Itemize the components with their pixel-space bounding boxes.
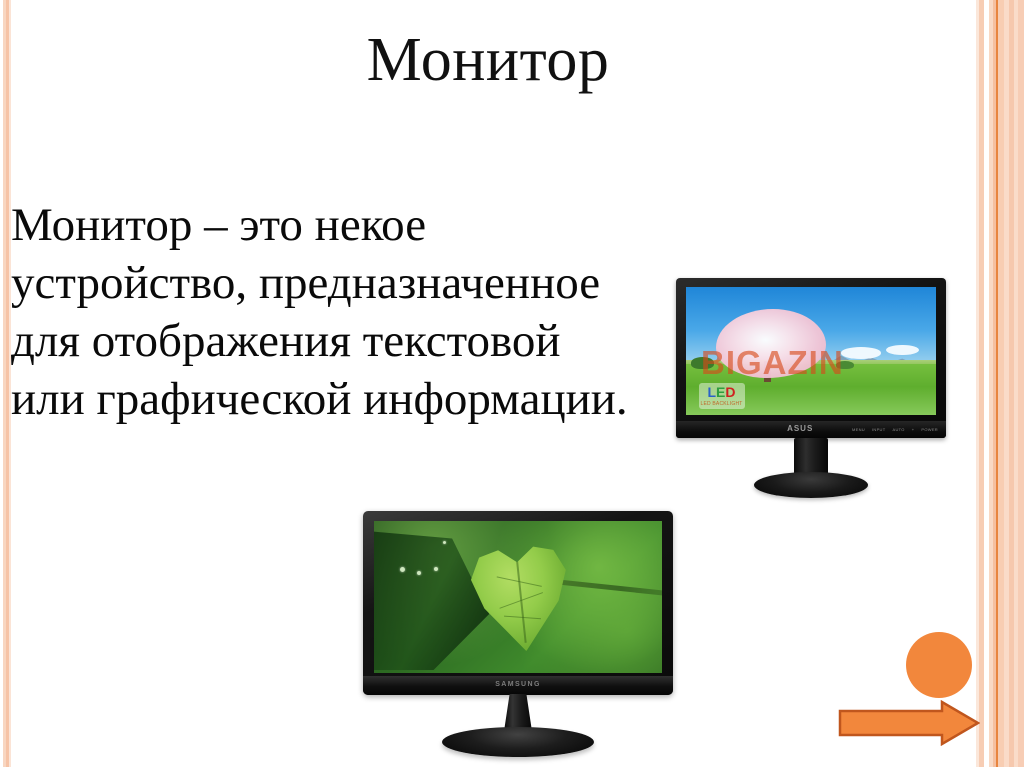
asus-screen: BIGAZIN LED LED BACKLIGHT (686, 287, 936, 415)
decorative-stripe-4 (993, 0, 996, 767)
asus-button-input: INPUT (872, 427, 886, 432)
decorative-stripe-1 (6, 0, 9, 767)
asus-bezel: BIGAZIN LED LED BACKLIGHT ASUS MENU INPU… (676, 278, 946, 438)
nav-circle-marker[interactable] (906, 632, 972, 698)
leaf-monitor-bottom-bezel: SAMSUNG (363, 676, 673, 695)
asus-stand-base (754, 472, 868, 498)
asus-button-power: POWER (921, 427, 938, 432)
decorative-stripe-7 (1004, 0, 1009, 767)
decorative-stripe-5 (996, 0, 998, 767)
body-paragraph: Монитор – это некое устройство, предназн… (11, 196, 631, 428)
led-letter-l: L (707, 384, 716, 400)
leaf-monitor-screen (374, 521, 662, 673)
arrow-right-icon[interactable] (838, 700, 980, 746)
next-slide-navigation[interactable] (838, 632, 980, 744)
right-decorative-stripes (976, 0, 1024, 767)
led-letter-e: E (716, 384, 725, 400)
asus-brand-logo: ASUS (787, 424, 813, 433)
led-badge-letters: LED (707, 384, 735, 400)
led-badge: LED LED BACKLIGHT (699, 383, 745, 409)
decorative-stripe-9 (1014, 0, 1018, 767)
led-letter-d: D (725, 384, 735, 400)
asus-button-menu: MENU (852, 427, 865, 432)
asus-control-buttons: MENU INPUT AUTO + POWER (852, 427, 938, 432)
monitor-image-leaf: SAMSUNG (363, 511, 673, 763)
decorative-stripe-0 (3, 0, 6, 767)
presentation-slide: Монитор Монитор – это некое устройство, … (0, 0, 1024, 767)
wallpaper-water-drop (400, 567, 405, 572)
asus-bottom-bezel: ASUS MENU INPUT AUTO + POWER (676, 421, 946, 438)
led-badge-subtitle: LED BACKLIGHT (699, 402, 745, 407)
leaf-monitor-brand-logo: SAMSUNG (495, 681, 541, 688)
screen-watermark: BIGAZIN (701, 346, 936, 379)
monitor-image-asus: BIGAZIN LED LED BACKLIGHT ASUS MENU INPU… (676, 278, 946, 500)
decorative-stripe-6 (998, 0, 1004, 767)
leaf-monitor-stand-base (442, 727, 594, 757)
page-title: Монитор (0, 28, 976, 93)
asus-button-plus: + (912, 427, 915, 432)
wallpaper-water-drop (443, 541, 446, 544)
decorative-stripe-3 (989, 0, 993, 767)
decorative-stripe-2 (984, 0, 989, 767)
decorative-stripe-8 (1009, 0, 1014, 767)
leaf-monitor-bezel: SAMSUNG (363, 511, 673, 695)
asus-button-auto: AUTO (892, 427, 904, 432)
decorative-stripe-10 (1018, 0, 1024, 767)
